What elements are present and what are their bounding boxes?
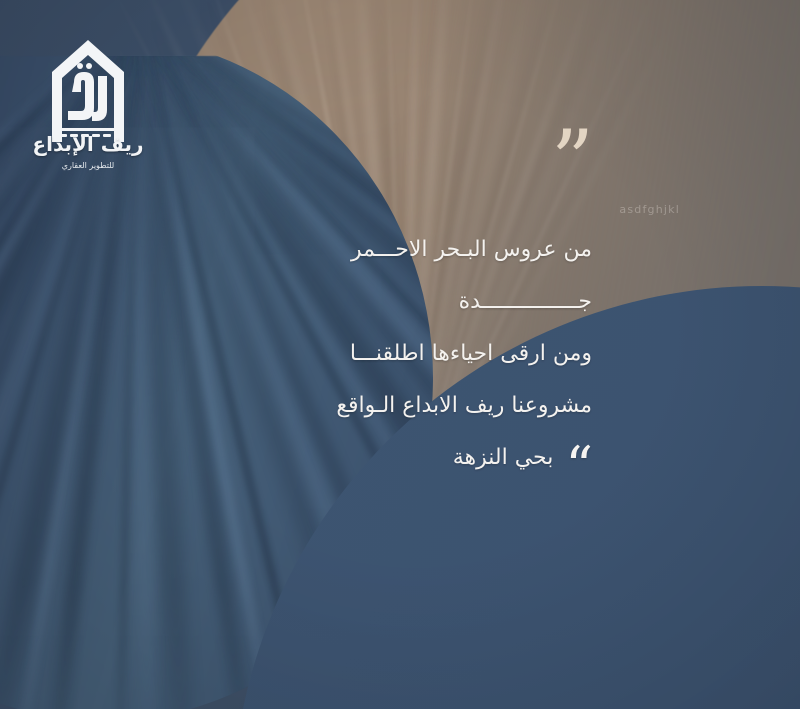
quote-line-5-row: “ بحي النزهة (262, 432, 592, 484)
quote-line-3: ومن ارقى احياءها اطلقنـــا (262, 328, 592, 380)
logo-brand-name: ريف الإبداع (28, 132, 148, 156)
quote-line-5: بحي النزهة (453, 432, 554, 484)
poster-canvas: ريف الإبداع للتطوير العقاري ” من عروس ال… (0, 0, 800, 709)
logo-monogram-glyph (68, 63, 107, 121)
brand-logo[interactable]: ريف الإبداع للتطوير العقاري (28, 24, 148, 174)
quote-block: ” من عروس البـحر الاحـــمر جــــــــــــ… (262, 140, 592, 484)
logo-tagline: للتطوير العقاري (28, 161, 148, 170)
quote-line-1: من عروس البـحر الاحـــمر (262, 224, 592, 276)
quote-line-4: مشروعنا ريف الابداع الـواقع (262, 380, 592, 432)
quote-text: من عروس البـحر الاحـــمر جــــــــــــــ… (262, 224, 592, 484)
quote-open-mark: ” (262, 140, 592, 186)
quote-line-2: جـــــــــــــــدة (262, 276, 592, 328)
quote-close-mark: “ (565, 453, 592, 480)
